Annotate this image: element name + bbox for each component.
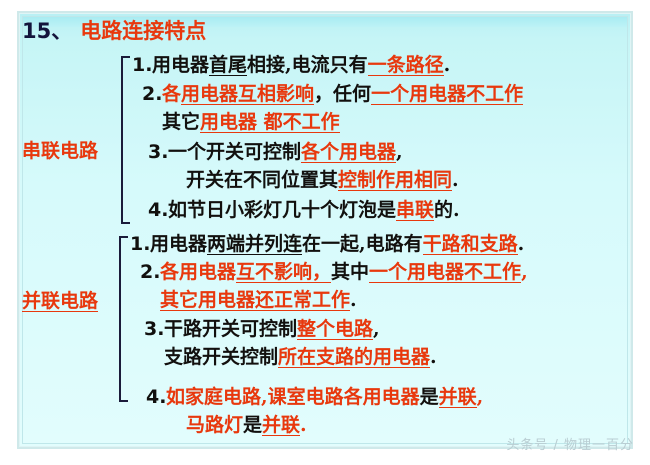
- series-item-number: 4.: [148, 201, 168, 220]
- series-item-number: 3.: [148, 143, 168, 162]
- parallel-item-text: 马路灯是并联.: [186, 416, 307, 436]
- parallel-item-text: 其它用电器还正常工作.: [160, 291, 357, 311]
- series-brace: [121, 56, 130, 224]
- slide-canvas: 15、电路连接特点 串联电路 并联电路 1.用电器首尾相接,电流只有一条路径.2…: [0, 0, 650, 465]
- text-segment: .: [300, 416, 307, 435]
- text-segment: 整个电路: [297, 320, 373, 340]
- text-segment: ,: [373, 320, 380, 339]
- parallel-item-text: 用电器两端并列连在一起,电路有干路和支路.: [150, 235, 524, 255]
- text-segment: 各: [162, 85, 181, 104]
- series-circuit-label: 串联电路: [22, 142, 98, 161]
- text-segment: 是: [420, 388, 439, 407]
- text-segment: 各用电器: [160, 263, 236, 282]
- text-segment: 任何: [333, 85, 371, 104]
- text-segment: .: [452, 171, 459, 190]
- title-text: 电路连接特点: [80, 20, 206, 41]
- series-item-text: 各用电器互相影响，任何一个用电器不工作: [162, 85, 523, 105]
- series-item-number: 1.: [132, 56, 152, 75]
- text-segment: 控制作用相同: [338, 171, 452, 191]
- text-segment: 所在支路的用电器: [278, 348, 430, 368]
- parallel-circuit-label: 并联电路: [22, 292, 98, 312]
- text-segment: 干路开关可控制: [164, 320, 297, 339]
- text-segment: 相接,电流只有: [247, 56, 368, 75]
- text-segment: 用电器互相影响: [181, 85, 314, 105]
- series-item-text: 其它用电器 都不工作: [162, 113, 340, 133]
- text-segment: 其它: [162, 113, 200, 132]
- parallel-item-number: 3.: [144, 320, 164, 339]
- text-segment: 一个用电器不工作: [371, 85, 523, 105]
- series-item-text: 一个开关可控制各个用电器,: [168, 143, 403, 163]
- text-segment: 是: [243, 416, 262, 435]
- series-item-text: 开关在不同位置其控制作用相同.: [186, 171, 459, 191]
- text-segment: 首尾: [209, 56, 247, 76]
- text-segment: 互不影响，: [236, 263, 331, 283]
- series-item-text: 如节日小彩灯几十个灯泡是串联的.: [168, 201, 460, 221]
- text-segment: 用电器: [152, 56, 209, 75]
- series-item-text: 用电器首尾相接,电流只有一条路径.: [152, 56, 450, 76]
- text-segment: 并联: [439, 388, 477, 408]
- text-segment: .: [444, 56, 451, 75]
- text-segment: 用电器 都不工作: [200, 113, 340, 133]
- parallel-item-text: 支路开关控制所在支路的用电器.: [164, 348, 437, 368]
- text-segment: 马路灯: [186, 416, 243, 435]
- text-segment: ,: [396, 143, 403, 162]
- parallel-item-number: 1.: [130, 235, 150, 254]
- text-segment: 并联: [262, 416, 300, 436]
- text-segment: ,: [521, 263, 528, 282]
- text-segment: .: [430, 348, 437, 367]
- text-segment: 如家庭电路,课室电路各用电器: [166, 388, 420, 407]
- text-segment: 在一起,电路有: [302, 235, 423, 254]
- parallel-item-text: 各用电器互不影响，其中一个用电器不工作,: [160, 263, 528, 283]
- text-segment: 如节日小彩灯几十个灯泡是: [168, 201, 396, 220]
- text-segment: 其中: [331, 263, 369, 282]
- text-segment: ,: [477, 388, 484, 407]
- parallel-brace: [119, 236, 128, 402]
- title-number: 15、: [22, 21, 72, 42]
- text-segment: 串联: [396, 201, 434, 221]
- parallel-item-text: 如家庭电路,课室电路各用电器是并联,: [166, 388, 483, 408]
- text-segment: 其它用电器还正常工作: [160, 291, 350, 311]
- text-segment: 支路开关控制: [164, 348, 278, 367]
- watermark: 头条号 / 物理一百分: [506, 434, 634, 453]
- parallel-item-number: 4.: [146, 388, 166, 407]
- text-segment: 一条路径: [368, 56, 444, 76]
- text-segment: 开关在不同位置其: [186, 171, 338, 190]
- text-segment: 用电器: [150, 235, 207, 254]
- parallel-item-text: 干路开关可控制整个电路,: [164, 320, 380, 340]
- page-title: 15、电路连接特点: [22, 20, 206, 42]
- text-segment: 的.: [434, 201, 460, 220]
- text-segment: 一个用电器不工作: [369, 263, 521, 283]
- text-segment: 各个用电器: [301, 143, 396, 163]
- text-segment: 干路和支路: [423, 235, 518, 255]
- text-segment: .: [350, 291, 357, 310]
- text-segment: 两端并列连: [207, 235, 302, 255]
- text-segment: ，: [314, 85, 333, 104]
- text-segment: 一个开关可控制: [168, 143, 301, 162]
- text-segment: .: [518, 235, 525, 254]
- parallel-item-number: 2.: [140, 263, 160, 282]
- slide-content: 15、电路连接特点 串联电路 并联电路 1.用电器首尾相接,电流只有一条路径.2…: [0, 0, 650, 465]
- series-item-number: 2.: [142, 85, 162, 104]
